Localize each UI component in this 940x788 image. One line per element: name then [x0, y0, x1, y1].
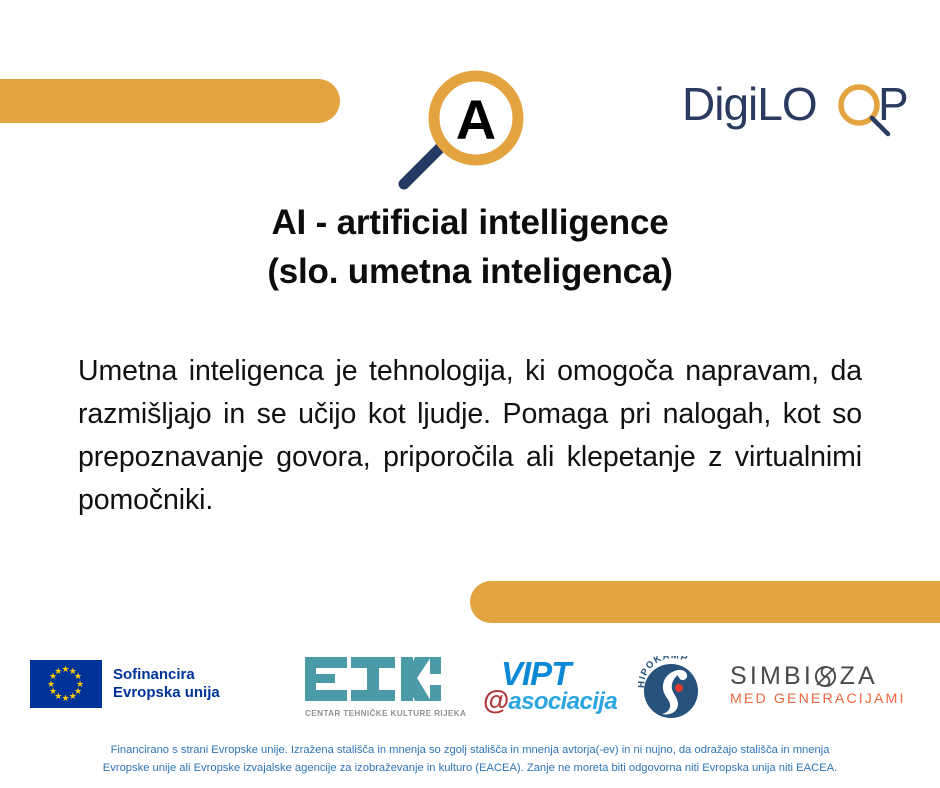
- badge-letter: A: [456, 88, 496, 151]
- infographic-card: { "theme": { "background": "#ffffff", "a…: [0, 0, 940, 788]
- hipokamp-seahorse-icon: HIPOKAMP: [638, 656, 712, 726]
- partner-logo-strip: ★★★★★★★★★★★★ Sofinancira Evropska unija …: [0, 650, 940, 730]
- vipt-subline: @ asociacija: [483, 687, 617, 715]
- partner-logo-vipt: VIPT @ asociacija: [483, 658, 617, 715]
- eu-disclaimer: Financirano s strani Evropske unije. Izr…: [0, 742, 940, 777]
- vipt-wordmark: VIPT: [501, 658, 617, 689]
- digiloop-logo: DigiLO P: [682, 78, 922, 138]
- simbioza-wordmark-part-2: ZA: [840, 662, 878, 690]
- magnifying-glass-icon: A: [392, 62, 542, 197]
- eu-disclaimer-line-2: Evropske unije ali Evropske izvajalske a…: [0, 760, 940, 778]
- partner-logo-hipokamp: HIPOKAMP: [638, 656, 712, 726]
- partner-logo-european-union: ★★★★★★★★★★★★ Sofinancira Evropska unija: [30, 660, 220, 708]
- ctk-logo-icon: [305, 657, 445, 701]
- eu-funding-line-1: Sofinancira: [113, 666, 220, 685]
- brand-text-right: P: [878, 78, 909, 130]
- eu-star-icon: ★: [69, 692, 77, 701]
- simbioza-tagline: MED GENERACIJAMI: [730, 691, 906, 708]
- at-symbol-icon: @: [483, 687, 509, 714]
- eu-disclaimer-line-1: Financirano s strani Evropske unije. Izr…: [0, 742, 940, 760]
- ctk-subtitle: CENTAR TEHNIČKE KULTURE RIJEKA: [305, 709, 466, 718]
- vipt-asociacija-text: asociacija: [508, 689, 617, 715]
- page-title-line-2: (slo. umetna inteligenca): [0, 247, 940, 296]
- definition-paragraph: Umetna inteligenca je tehnologija, ki om…: [78, 350, 862, 565]
- decorative-bar-bottom-right: [470, 581, 940, 623]
- partner-logo-simbioza: SIMBI ZA MED GENERACIJAMI: [730, 662, 906, 708]
- eu-star-icon: ★: [62, 694, 70, 703]
- eu-funding-line-2: Evropska unija: [113, 684, 220, 703]
- simbioza-yinyang-o-icon: [814, 665, 837, 688]
- decorative-bar-top-left: [0, 79, 340, 123]
- brand-text-left: DigiLO: [682, 78, 817, 130]
- page-title: AI - artificial intelligence (slo. umetn…: [0, 198, 940, 296]
- eu-funding-text: Sofinancira Evropska unija: [113, 666, 220, 703]
- eu-flag-icon: ★★★★★★★★★★★★: [30, 660, 102, 708]
- simbioza-wordmark: SIMBI ZA: [730, 662, 906, 690]
- definition-text: Umetna inteligenca je tehnologija, ki om…: [78, 350, 862, 565]
- page-title-line-1: AI - artificial intelligence: [0, 198, 940, 247]
- partner-logo-ctk: CENTAR TEHNIČKE KULTURE RIJEKA: [305, 657, 466, 718]
- simbioza-wordmark-part-1: SIMBI: [730, 662, 814, 690]
- eu-star-icon: ★: [54, 667, 62, 676]
